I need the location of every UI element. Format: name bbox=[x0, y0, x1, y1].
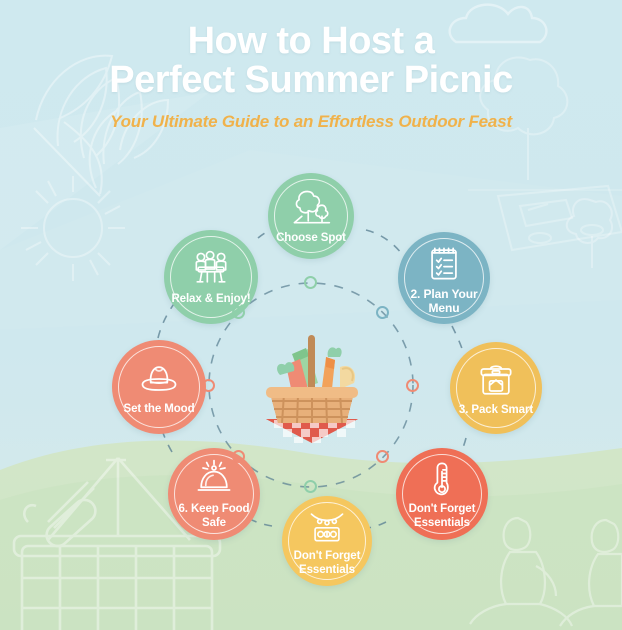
sun-hat-icon bbox=[137, 357, 181, 401]
step-label: Don't Forget Essentials bbox=[403, 503, 482, 530]
step-label: Don't Forget Essentials bbox=[288, 550, 367, 577]
marker-lower-right bbox=[376, 450, 389, 463]
step-label: Set the Mood bbox=[118, 403, 201, 417]
step-node-choose-spot[interactable]: Choose Spot bbox=[268, 173, 354, 259]
title-line-2: Perfect Summer Picnic bbox=[0, 61, 622, 100]
marker-upper-right bbox=[376, 306, 389, 319]
marker-lower-left bbox=[232, 450, 245, 463]
tree-park-icon bbox=[289, 186, 333, 230]
arc-choose-to-plan bbox=[366, 230, 402, 254]
marker-left bbox=[202, 379, 215, 392]
people-at-table-icon bbox=[189, 247, 233, 291]
page-subtitle: Your Ultimate Guide to an Effortless Out… bbox=[0, 112, 622, 132]
string-lights-radio-icon bbox=[305, 504, 349, 548]
marker-top bbox=[304, 276, 317, 289]
clipboard-checklist-icon bbox=[422, 241, 466, 285]
cooler-box-icon bbox=[474, 358, 518, 402]
title-line-1: How to Host a bbox=[188, 20, 435, 62]
thermometer-icon bbox=[420, 457, 464, 501]
marker-right bbox=[406, 379, 419, 392]
step-label: Relax & Enjoy! bbox=[165, 293, 256, 307]
marker-upper-left bbox=[232, 306, 245, 319]
picnic-basket-illustration bbox=[256, 327, 368, 443]
food-cloche-icon bbox=[192, 457, 236, 501]
step-node-pack-smart[interactable]: 3. Pack Smart bbox=[450, 342, 542, 434]
step-node-dont-forget-essentials-thermometer[interactable]: Don't Forget Essentials bbox=[396, 448, 488, 540]
step-label: 3. Pack Smart bbox=[453, 404, 539, 418]
step-node-dont-forget-essentials-lights[interactable]: Don't Forget Essentials bbox=[282, 496, 372, 586]
process-wheel: Choose Spot 2. Plan Your Menu bbox=[0, 150, 622, 620]
infographic-canvas: How to Host a Perfect Summer Picnic Your… bbox=[0, 0, 622, 630]
page-title: How to Host a Perfect Summer Picnic bbox=[0, 22, 622, 100]
marker-bottom bbox=[304, 480, 317, 493]
step-label: Choose Spot bbox=[270, 232, 352, 246]
step-label: 2. Plan Your Menu bbox=[404, 287, 483, 315]
step-node-set-the-mood[interactable]: Set the Mood bbox=[112, 340, 206, 434]
step-node-plan-your-menu[interactable]: 2. Plan Your Menu bbox=[398, 232, 490, 324]
step-label: 6. Keep Food Safe bbox=[172, 503, 255, 530]
header: How to Host a Perfect Summer Picnic Your… bbox=[0, 22, 622, 132]
step-node-keep-food-safe[interactable]: 6. Keep Food Safe bbox=[168, 448, 260, 540]
